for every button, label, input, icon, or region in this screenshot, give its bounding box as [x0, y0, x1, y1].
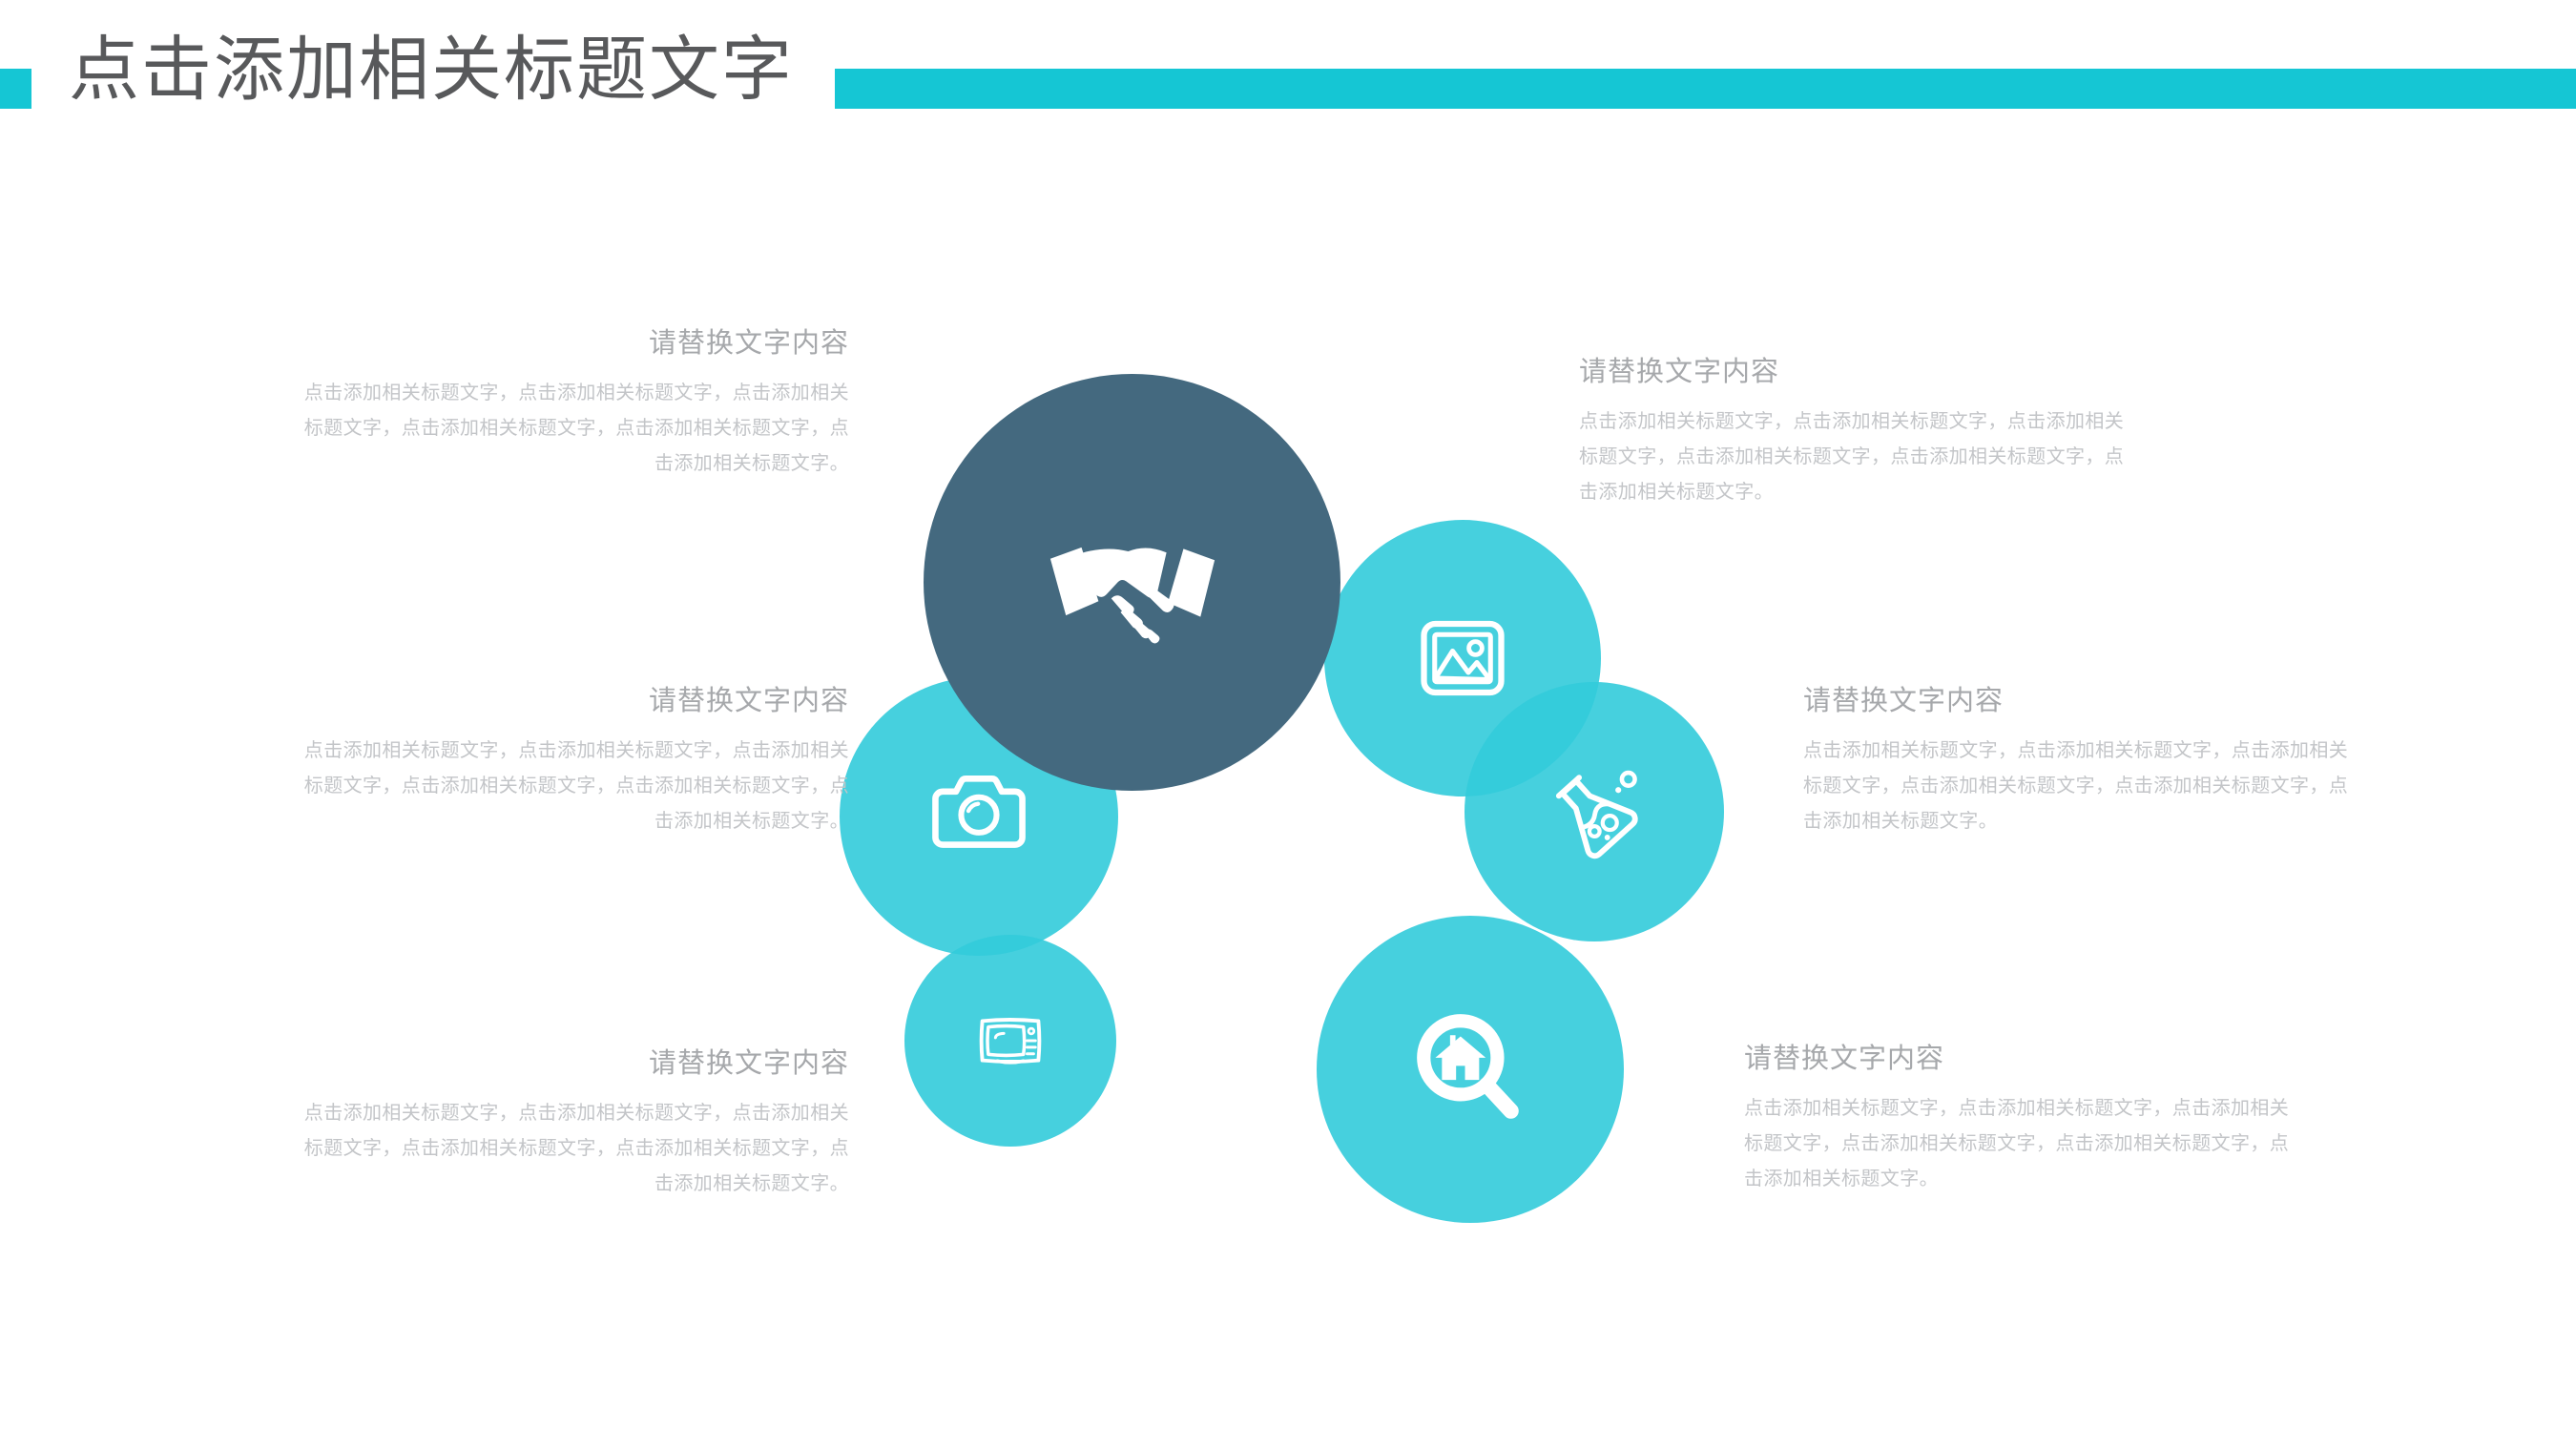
text-block-left-top: 请替换文字内容 点击添加相关标题文字，点击添加相关标题文字，点击添加相关标题文字… — [296, 324, 849, 482]
text-block-body: 点击添加相关标题文字，点击添加相关标题文字，点击添加相关标题文字，点击添加相关标… — [296, 376, 849, 482]
text-block-heading: 请替换文字内容 — [1803, 682, 2357, 720]
text-block-heading: 请替换文字内容 — [296, 1045, 849, 1083]
text-block-left-bottom: 请替换文字内容 点击添加相关标题文字，点击添加相关标题文字，点击添加相关标题文字… — [296, 1045, 849, 1202]
bubble-handshake[interactable] — [924, 374, 1340, 791]
text-block-body: 点击添加相关标题文字，点击添加相关标题文字，点击添加相关标题文字，点击添加相关标… — [296, 1096, 849, 1202]
text-block-heading: 请替换文字内容 — [1744, 1040, 2297, 1078]
text-block-right-middle: 请替换文字内容 点击添加相关标题文字，点击添加相关标题文字，点击添加相关标题文字… — [1803, 682, 2357, 839]
camera-icon — [927, 765, 1030, 868]
house-search-icon — [1408, 1007, 1532, 1131]
text-block-body: 点击添加相关标题文字，点击添加相关标题文字，点击添加相关标题文字，点击添加相关标… — [1579, 404, 2132, 510]
text-block-body: 点击添加相关标题文字，点击添加相关标题文字，点击添加相关标题文字，点击添加相关标… — [296, 734, 849, 839]
flask-icon — [1545, 762, 1644, 861]
bubble-house-search[interactable] — [1317, 916, 1624, 1223]
image-icon — [1417, 612, 1508, 704]
bubble-flask[interactable] — [1465, 682, 1724, 941]
text-block-body: 点击添加相关标题文字，点击添加相关标题文字，点击添加相关标题文字，点击添加相关标… — [1744, 1091, 2297, 1197]
text-block-right-top: 请替换文字内容 点击添加相关标题文字，点击添加相关标题文字，点击添加相关标题文字… — [1579, 353, 2132, 510]
text-block-heading: 请替换文字内容 — [296, 682, 849, 720]
bubble-tv[interactable] — [904, 935, 1116, 1147]
handshake-icon — [1042, 492, 1223, 673]
text-block-heading: 请替换文字内容 — [296, 324, 849, 362]
text-block-left-middle: 请替换文字内容 点击添加相关标题文字，点击添加相关标题文字，点击添加相关标题文字… — [296, 682, 849, 839]
text-block-right-bottom: 请替换文字内容 点击添加相关标题文字，点击添加相关标题文字，点击添加相关标题文字… — [1744, 1040, 2297, 1197]
text-block-body: 点击添加相关标题文字，点击添加相关标题文字，点击添加相关标题文字，点击添加相关标… — [1803, 734, 2357, 839]
tv-icon — [972, 1003, 1049, 1079]
text-block-heading: 请替换文字内容 — [1579, 353, 2132, 391]
